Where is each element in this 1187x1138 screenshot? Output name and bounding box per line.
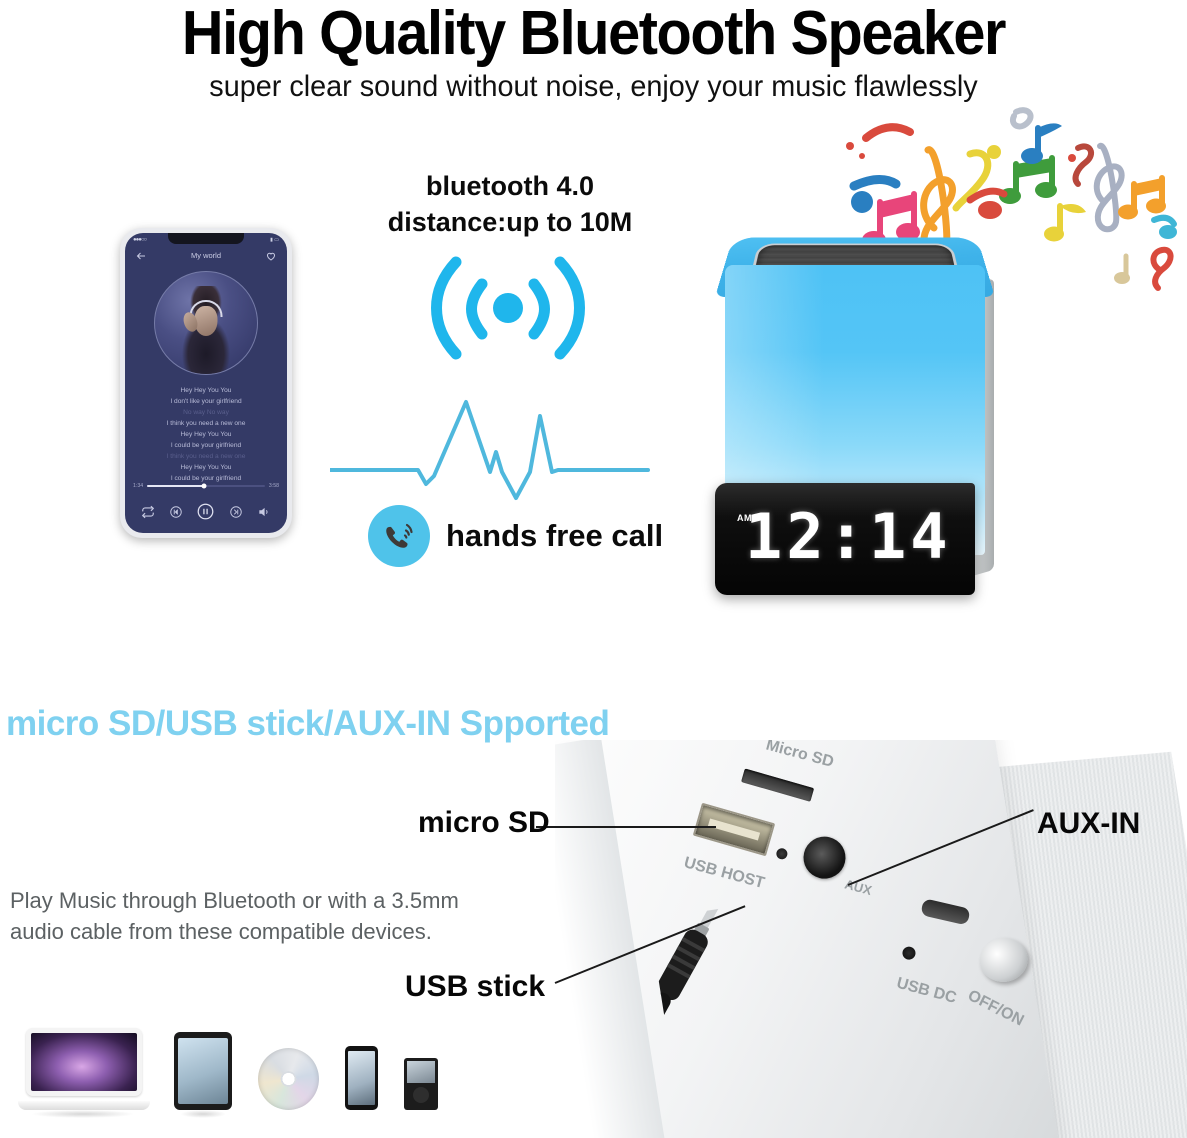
hands-free-call-row: hands free call [368,505,663,567]
laptop-base [18,1101,150,1110]
smartphone-body [345,1046,379,1110]
headphones-icon [190,300,223,317]
bluetooth-speaker-product: AM 12:14 [705,205,1005,615]
usb-host-port [693,803,775,857]
mp3-player-icon [404,1058,438,1110]
phone-screen: ●●●○○ ▮ ▭ My world [125,233,287,533]
progress-track[interactable] [147,485,265,487]
callout-usb-stick: USB stick [405,970,545,1004]
usb-dc-port-label: USB DC [894,975,958,1008]
laptop-screen [31,1033,137,1091]
mp3-player-body [404,1058,438,1110]
compatibility-line-2: audio cable from these compatible device… [10,916,480,947]
phone-mockup: ●●●○○ ▮ ▭ My world [120,228,292,538]
compatibility-line-1: Play Music through Bluetooth or with a 3… [10,885,480,916]
phone-notch [168,233,244,244]
laptop-lid [26,1028,142,1096]
micro-sd-port [741,768,814,801]
heart-icon[interactable] [265,249,277,261]
album-art-figure [175,286,237,375]
bluetooth-distance: distance:up to 10M [355,204,665,240]
total-time: 3:58 [269,483,279,489]
playback-progress[interactable]: 1:34 3:58 [125,483,287,489]
wifi-waves-icon [418,250,598,365]
smartphone-screen [348,1051,376,1105]
pause-icon[interactable] [196,502,215,521]
lyric-line: Hey Hey You You [125,462,287,473]
tablet-body [174,1032,231,1110]
smartphone-icon [345,1046,379,1110]
signal-icon: ●●●○○ [133,237,146,243]
playback-controls [125,502,287,521]
laptop-icon [18,1028,148,1110]
power-switch-label: OFF/ON [964,987,1026,1030]
now-playing-title: My world [191,251,221,260]
battery-icon: ▮ ▭ [270,237,279,243]
indicator-led [776,847,789,860]
next-track-icon[interactable] [229,505,243,519]
lyric-line: I think you need a new one [125,451,287,462]
tablet-screen [178,1038,227,1104]
previous-track-icon[interactable] [169,505,183,519]
cd-disc-icon [258,1048,319,1110]
lyrics-panel: Hey Hey You You I don't like your girlfr… [125,385,287,484]
laptop-shadow [31,1110,135,1118]
infographic-page: High Quality Bluetooth Speaker super cle… [0,0,1187,1138]
callout-micro-sd: micro SD [418,806,550,840]
progress-knob[interactable] [201,484,206,489]
tablet-icon [174,1032,231,1110]
back-arrow-icon[interactable] [135,249,147,261]
callout-line-micro-sd [536,826,716,828]
aux-cable-plug [649,884,909,1127]
section2-title: micro SD/USB stick/AUX-IN Spported [6,704,609,744]
speaker-clock-display: AM 12:14 [715,483,975,595]
page-title: High Quality Bluetooth Speaker [42,0,1146,69]
lyric-line: I could be your girlfriend [125,440,287,451]
tablet-shadow [180,1110,226,1118]
lyric-line: Hey Hey You You [125,429,287,440]
usb-dc-port [920,898,971,925]
compatibility-text: Play Music through Bluetooth or with a 3… [10,885,480,947]
lyric-line: I don't like your girlfriend [125,396,287,407]
elapsed-time: 1:34 [133,483,143,489]
power-switch[interactable] [977,934,1031,985]
callout-aux-in: AUX-IN [1037,807,1140,841]
usb-host-port-label: USB HOST [682,854,767,893]
progress-fill [147,485,204,487]
mp3-player-wheel [413,1087,429,1103]
audio-waveform-icon [330,398,670,503]
repeat-icon[interactable] [141,505,155,519]
speaker-back-panel-photo: Micro SD USB HOST AUX USB DC OFF/ON [555,740,1187,1138]
lyric-line: I think you need a new one [125,418,287,429]
lyric-line: No way No way [125,407,287,418]
bluetooth-spec: bluetooth 4.0 distance:up to 10M [355,168,665,240]
charge-led [902,946,917,961]
volume-icon[interactable] [257,505,271,519]
compatible-devices-row [18,1000,438,1110]
lyric-line: Hey Hey You You [125,385,287,396]
aux-port [800,834,848,882]
phone-call-icon [368,505,430,567]
hands-free-call-label: hands free call [446,518,663,554]
clock-time: 12:14 [745,505,952,569]
mp3-player-screen [407,1061,435,1083]
album-art [154,271,258,375]
bluetooth-version: bluetooth 4.0 [355,168,665,204]
micro-sd-port-label: Micro SD [764,740,836,772]
phone-nav-row: My world [125,247,287,263]
